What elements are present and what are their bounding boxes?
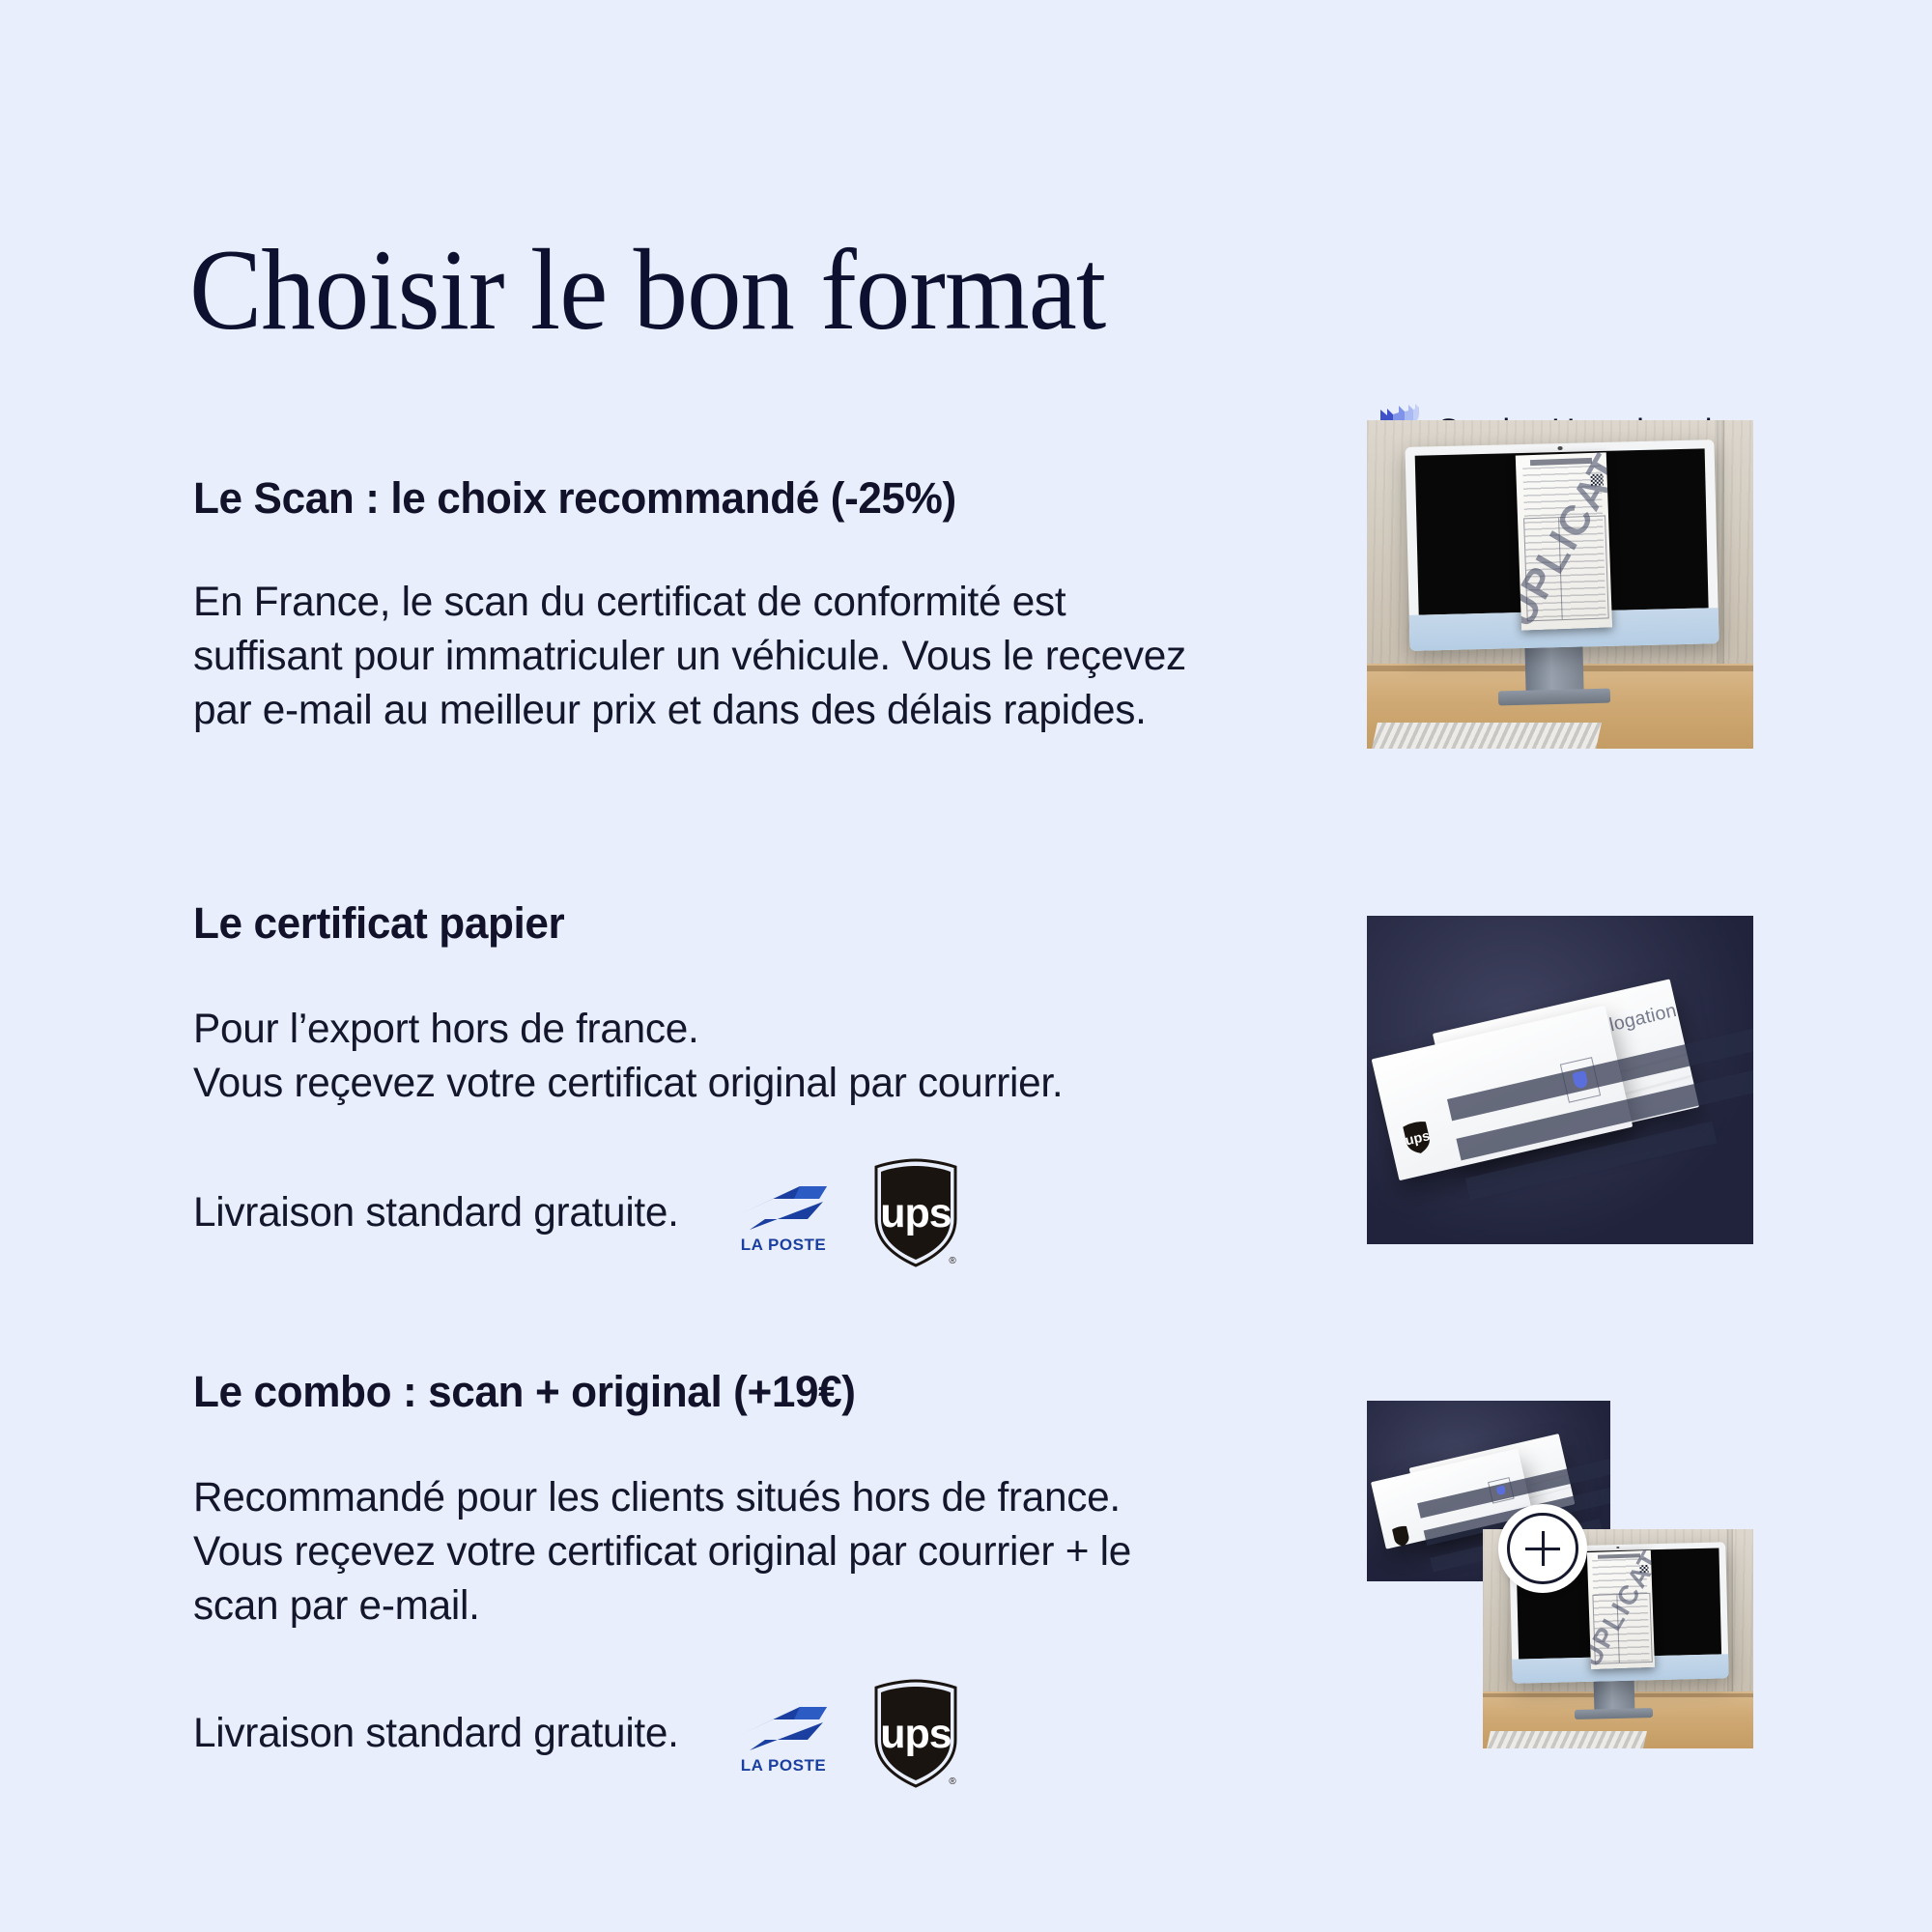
section-scan: Le Scan : le choix recommandé (-25%) En …	[193, 473, 1227, 738]
webcam-icon	[1616, 1547, 1620, 1548]
svg-text:LA POSTE: LA POSTE	[741, 1756, 826, 1775]
la-poste-bird-icon: LA POSTE	[726, 1692, 840, 1776]
svg-text:ups: ups	[881, 1711, 952, 1757]
section-combo-body: Recommandé pour les clients situés hors …	[193, 1471, 1211, 1634]
svg-text:LA POSTE: LA POSTE	[741, 1236, 826, 1254]
svg-text:®: ®	[950, 1256, 957, 1266]
monitor-certificate-photo: DUPLICATA	[1367, 420, 1753, 749]
stamp-mark-icon	[1496, 1485, 1506, 1495]
envelope-front: ups	[1372, 1006, 1634, 1181]
webcam-icon	[1558, 446, 1563, 449]
section-paper-body: Pour l’export hors de france. Vous reçev…	[193, 1003, 1211, 1111]
section-paper: Le certificat papier Pour l’export hors …	[193, 898, 1227, 1269]
section-paper-heading: Le certificat papier	[193, 898, 1207, 949]
content-column: Le Scan : le choix recommandé (-25%) En …	[0, 0, 1285, 1932]
section-combo: Le combo : scan + original (+19€) Recomm…	[193, 1367, 1227, 1790]
monitor-body: DUPLICATA	[1405, 440, 1719, 651]
certificate-document: DUPLICATA	[1587, 1550, 1655, 1669]
envelope-address-block	[1447, 1010, 1753, 1218]
section-combo-heading: Le combo : scan + original (+19€)	[193, 1367, 1207, 1417]
keyboard	[1487, 1731, 1647, 1748]
keyboard	[1372, 723, 1602, 749]
certificate-document: DUPLICATA	[1516, 452, 1613, 630]
section-scan-heading: Le Scan : le choix recommandé (-25%)	[193, 473, 1207, 524]
la-poste-bird-icon: LA POSTE	[726, 1172, 840, 1255]
monitor-stand-foot	[1498, 688, 1610, 705]
combo-photo: DUPLICATA	[1367, 1401, 1753, 1748]
shipping-text-combo: Livraison standard gratuite.	[193, 1710, 679, 1757]
envelopes-photo: Service Homologation ups	[1367, 916, 1753, 1244]
shipping-row-combo: Livraison standard gratuite. LA POSTE up…	[193, 1678, 1227, 1790]
plus-icon	[1507, 1513, 1578, 1584]
svg-text:ups: ups	[881, 1190, 952, 1236]
ups-shield-icon	[1380, 1485, 1406, 1514]
envelope-scene: Service Homologation ups	[1367, 916, 1753, 1244]
shipping-row-paper: Livraison standard gratuite. LA POSTE up…	[193, 1157, 1227, 1269]
svg-text:®: ®	[950, 1776, 957, 1787]
ups-shield-icon: ups ®	[869, 1157, 962, 1269]
shipping-text-paper: Livraison standard gratuite.	[193, 1189, 679, 1236]
stamp-mark-icon	[1573, 1070, 1589, 1089]
monitor-stand-neck	[1524, 639, 1583, 696]
ups-shield-icon: ups	[1387, 1066, 1428, 1118]
ups-shield-icon: ups ®	[869, 1678, 962, 1790]
combo-plus-badge	[1498, 1504, 1587, 1593]
section-scan-body: En France, le scan du certificat de conf…	[193, 576, 1211, 738]
